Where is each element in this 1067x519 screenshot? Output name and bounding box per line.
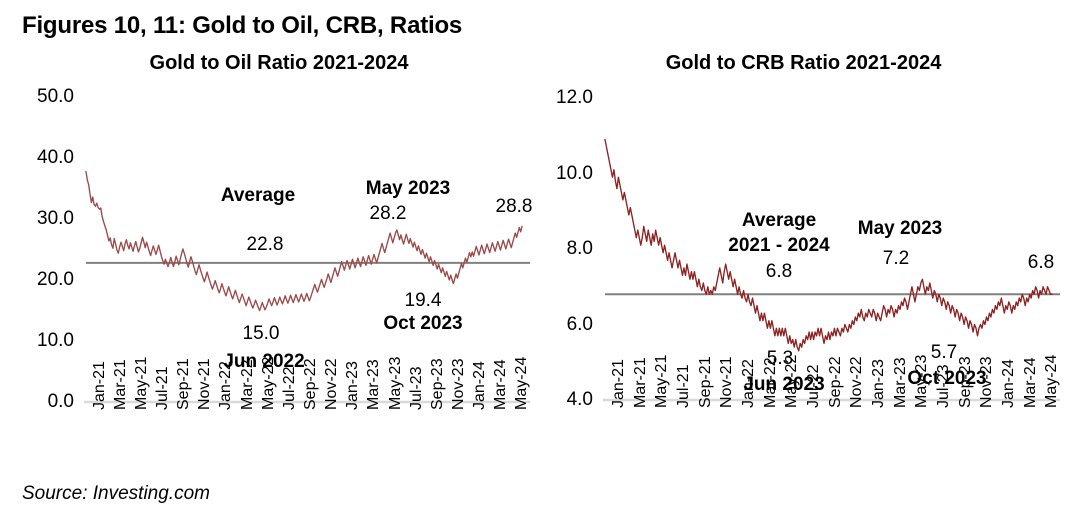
- y-tick-label: 4.0: [540, 389, 593, 411]
- y-tick-label: 40.0: [0, 147, 74, 169]
- x-tick-label: Jul-21: [675, 364, 693, 408]
- trough-oct-2023-value-label: 19.4: [405, 290, 442, 312]
- x-tick-label: Jan-24: [1000, 359, 1018, 408]
- x-tick-label: Jan-21: [91, 361, 109, 410]
- x-tick-label: May-21: [653, 355, 671, 408]
- trough-jun-2022-date-label: Jun 2022: [223, 351, 304, 373]
- figure-root: Figures 10, 11: Gold to Oil, CRB, Ratios…: [0, 0, 1067, 519]
- x-tick-label: Nov-21: [718, 356, 736, 408]
- x-tick-label: Mar-21: [112, 359, 130, 410]
- y-tick-label: 12.0: [540, 87, 593, 109]
- trough-oct-2023-date-label: Oct 2023: [907, 368, 986, 390]
- x-tick-label: May-24: [513, 357, 531, 410]
- source-note: Source: Investing.com: [22, 483, 210, 505]
- latest-value-label: 6.8: [1028, 252, 1054, 274]
- chart-panel-gold-to-oil: Gold to Oil Ratio 2021-2024 50.040.030.0…: [0, 0, 540, 519]
- trough-jun-2022-value-label: 15.0: [243, 323, 280, 345]
- x-tick-label: Nov-22: [323, 358, 341, 410]
- x-tick-label: May-23: [387, 357, 405, 410]
- x-tick-label: May-21: [133, 357, 151, 410]
- x-tick-label: Mar-21: [632, 357, 650, 408]
- average-value-label: 22.8: [247, 234, 284, 256]
- x-tick-label: Nov-22: [848, 356, 866, 408]
- x-tick-label: Sep-22: [302, 358, 320, 410]
- average-label: Average: [742, 210, 816, 232]
- y-tick-label: 10.0: [0, 330, 74, 352]
- y-tick-label: 0.0: [0, 391, 74, 413]
- x-tick-label: May-24: [1043, 355, 1061, 408]
- chart-panel-gold-to-crb: Gold to CRB Ratio 2021-2024 12.010.08.06…: [540, 0, 1067, 519]
- trough-oct-2023-date-label: Oct 2023: [383, 313, 462, 335]
- x-tick-label: Sep-21: [175, 358, 193, 410]
- average-value-label: 6.8: [766, 261, 792, 283]
- trough-jun-2023-value-label: 5.3: [767, 348, 793, 370]
- y-tick-label: 10.0: [540, 163, 593, 185]
- trough-jun-2023-date-label: Jun 2023: [743, 374, 824, 396]
- latest-value-label: 28.8: [496, 196, 533, 218]
- x-tick-label: Jan-21: [610, 359, 628, 408]
- x-tick-label: Jan-23: [344, 361, 362, 410]
- average-range-label: 2021 - 2024: [728, 235, 829, 257]
- y-tick-label: 6.0: [540, 314, 593, 336]
- y-tick-label: 50.0: [0, 86, 74, 108]
- x-tick-label: Sep-21: [697, 356, 715, 408]
- x-tick-label: Mar-24: [1022, 357, 1040, 408]
- x-tick-label: Mar-24: [492, 359, 510, 410]
- x-tick-label: Jul-23: [408, 366, 426, 410]
- x-tick-label: Nov-23: [450, 358, 468, 410]
- peak-may-2023-value-label: 7.2: [883, 248, 909, 270]
- y-tick-label: 8.0: [540, 238, 593, 260]
- trough-oct-2023-value-label: 5.7: [931, 342, 957, 364]
- y-tick-label: 20.0: [0, 269, 74, 291]
- x-tick-label: Mar-23: [365, 359, 383, 410]
- y-tick-label: 30.0: [0, 208, 74, 230]
- peak-may-2023-date-label: May 2023: [366, 178, 451, 200]
- x-tick-label: Jan-24: [471, 361, 489, 410]
- x-tick-label: Jul-21: [154, 366, 172, 410]
- peak-may-2023-date-label: May 2023: [858, 218, 943, 240]
- x-tick-label: Nov-21: [196, 358, 214, 410]
- x-tick-label: Sep-23: [429, 358, 447, 410]
- x-tick-label: Sep-22: [827, 356, 845, 408]
- average-label: Average: [221, 185, 295, 207]
- peak-may-2023-value-label: 28.2: [370, 203, 407, 225]
- x-tick-label: Jan-23: [870, 359, 888, 408]
